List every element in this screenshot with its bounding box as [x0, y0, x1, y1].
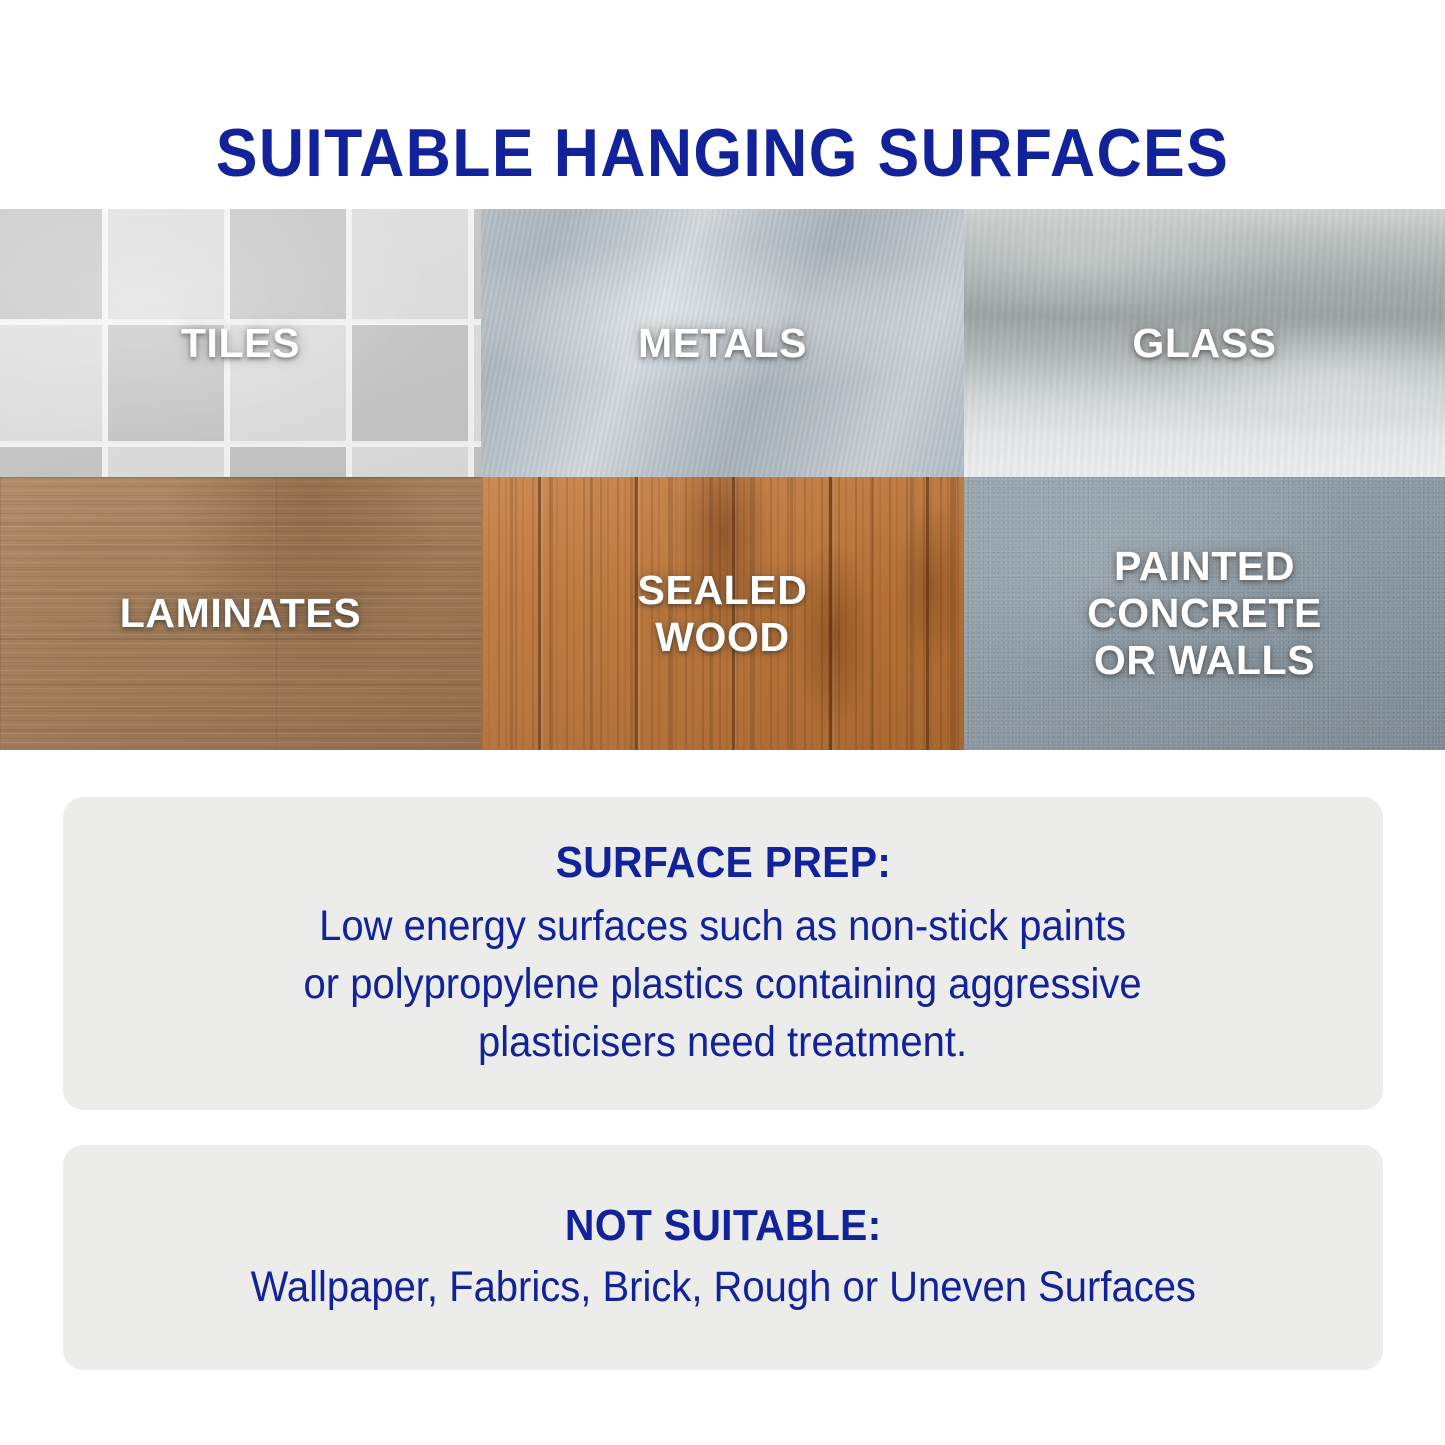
- surface-label-sealed-wood: SEALED WOOD: [638, 567, 808, 661]
- surface-panel-laminates: LAMINATES: [0, 477, 481, 750]
- surface-label-tiles: TILES: [181, 320, 300, 367]
- surface-panel-tiles: TILES: [0, 209, 481, 477]
- surface-prep-heading: SURFACE PREP:: [555, 837, 891, 889]
- surface-panel-sealed-wood: SEALED WOOD: [481, 477, 964, 750]
- page-title: SUITABLE HANGING SURFACES: [58, 114, 1387, 192]
- surface-panel-painted-concrete: PAINTED CONCRETE OR WALLS: [964, 477, 1445, 750]
- not-suitable-heading: NOT SUITABLE:: [565, 1200, 882, 1252]
- surface-panel-metals: METALS: [481, 209, 964, 477]
- surface-label-metals: METALS: [638, 320, 807, 367]
- surface-label-painted-concrete: PAINTED CONCRETE OR WALLS: [1087, 543, 1322, 684]
- surface-label-laminates: LAMINATES: [120, 590, 362, 637]
- not-suitable-body: Wallpaper, Fabrics, Brick, Rough or Unev…: [250, 1258, 1195, 1316]
- surface-prep-body: Low energy surfaces such as non-stick pa…: [304, 897, 1142, 1071]
- surface-label-glass: GLASS: [1132, 320, 1276, 367]
- surface-grid: TILES METALS GLASS LAMINATES SEALED WOOD…: [0, 209, 1445, 750]
- surface-prep-box: SURFACE PREP: Low energy surfaces such a…: [63, 797, 1383, 1110]
- surface-panel-glass: GLASS: [964, 209, 1445, 477]
- not-suitable-box: NOT SUITABLE: Wallpaper, Fabrics, Brick,…: [63, 1145, 1383, 1370]
